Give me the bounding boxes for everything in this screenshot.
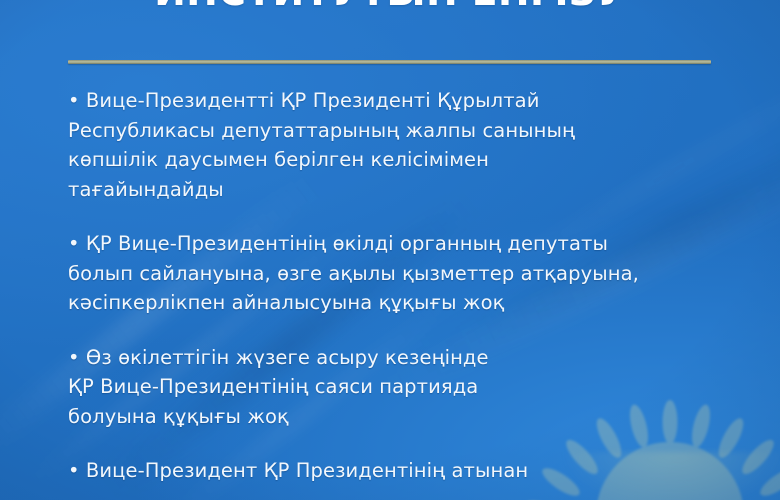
bullet-item: • ҚР Вице-Президентінің өкілді органның … [68, 229, 756, 318]
slide-title: ИНСТИТУТЫН ЕНГІЗУ [31, 0, 749, 14]
bullet-list: • Вице-Президентті ҚР Президенті Құрылта… [68, 86, 756, 486]
title-divider [68, 60, 711, 64]
bullet-item: • Өз өкілеттігін жүзеге асыру кезеңінде … [68, 343, 756, 432]
bullet-item: • Вице-Президент ҚР Президентінің атынан [68, 456, 756, 486]
slide-content: ИНСТИТУТЫН ЕНГІЗУ • Вице-Президентті ҚР … [0, 0, 780, 500]
bullet-item: • Вице-Президентті ҚР Президенті Құрылта… [68, 86, 756, 204]
presentation-slide: ИНСТИТУТЫН ЕНГІЗУ • Вице-Президентті ҚР … [0, 0, 780, 500]
